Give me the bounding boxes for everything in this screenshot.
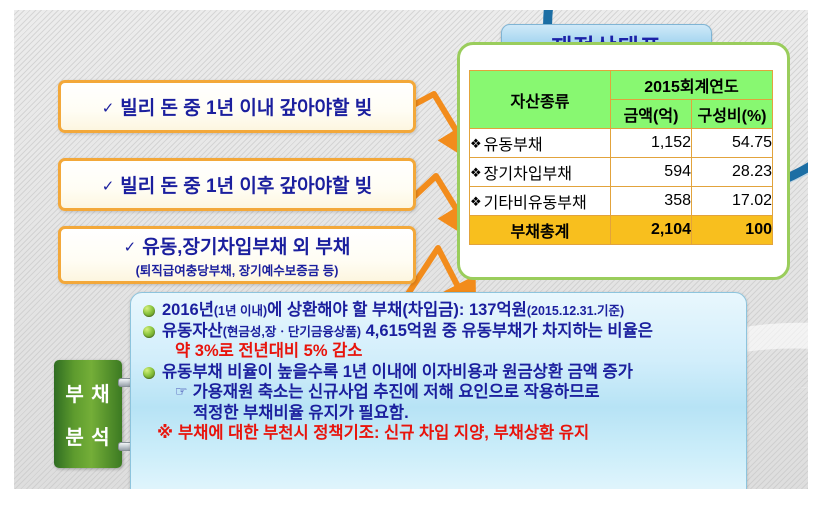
header-ratio: 구성비(%) <box>692 100 773 129</box>
row-label-current-liabilities: ❖유동부채 <box>470 129 611 158</box>
analysis-line-5: ☞ 가용재원 축소는 신규사업 추진에 저해 요인으로 작용하므로 <box>131 384 746 401</box>
check-icon: ✓ <box>124 239 137 256</box>
analysis-line-2-text: 유동자산(현금성,장ㆍ단기금융상품) 4,615억원 중 유동부채가 차지하는 … <box>162 323 653 340</box>
pointing-hand-icon: ☞ <box>175 384 188 398</box>
diamond-icon: ❖ <box>470 165 482 180</box>
analysis-line-1-text: 2016년(1년 이내)에 상환해야 할 부채(차입금): 137억원(2015… <box>162 302 624 319</box>
analysis-line-6: 적정한 부채비율 유지가 필요함. <box>131 405 746 422</box>
row-amount: 1,152 <box>611 129 692 158</box>
callout-main-text: 빌리 돈 중 1년 이후 갚아야할 빚 <box>120 176 372 197</box>
diamond-icon: ❖ <box>470 136 482 151</box>
analysis-line-1-d: (2015.12.31.기준) <box>527 304 624 318</box>
reference-mark-icon: ※ <box>157 425 173 442</box>
callout-text-1: ✓빌리 돈 중 1년 이내 갚아야할 빚 <box>102 93 373 120</box>
analysis-label-line1: 부 채 <box>65 378 110 407</box>
bullet-icon <box>143 305 155 317</box>
row-label-long-term-borrowings: ❖장기차입부채 <box>470 158 611 187</box>
callout-other-liabilities: ✓유동,장기차입부채 외 부채 (퇴직급여충당부채, 장기예수보증금 등) <box>58 226 416 284</box>
callout-text-3: ✓유동,장기차입부채 외 부채 <box>124 232 351 259</box>
header-amount: 금액(억) <box>611 100 692 129</box>
analysis-line-2-b: (현금성,장ㆍ단기금융상품) <box>223 325 361 339</box>
diamond-icon: ❖ <box>470 194 482 209</box>
analysis-line-7: ※ 부채에 대한 부천시 정책기조: 신규 차입 지양, 부채상환 유지 <box>131 425 746 442</box>
callout-sub-text: (퇴직급여충당부채, 장기예수보증금 등) <box>136 260 339 279</box>
table-row: ❖기타비유동부채 358 17.02 <box>470 187 773 216</box>
analysis-side-label: 부 채 분 석 <box>54 360 122 468</box>
analysis-line-1: 2016년(1년 이내)에 상환해야 할 부채(차입금): 137억원(2015… <box>131 302 746 319</box>
financial-table: 자산종류 2015회계연도 금액(억) 구성비(%) ❖유동부채 1,152 5… <box>469 70 773 245</box>
row-name: 장기차입부채 <box>484 166 572 183</box>
analysis-panel: 2016년(1년 이내)에 상환해야 할 부채(차입금): 137억원(2015… <box>130 292 747 489</box>
row-amount: 358 <box>611 187 692 216</box>
callout-current-liabilities: ✓빌리 돈 중 1년 이내 갚아야할 빚 <box>58 80 416 133</box>
row-ratio: 28.23 <box>692 158 773 187</box>
callout-main-text: 빌리 돈 중 1년 이내 갚아야할 빚 <box>120 98 372 119</box>
total-label: 부채총계 <box>470 216 611 245</box>
slide-root: 재정상태표 자산종류 2015회계연도 금액(억) 구성비(%) ❖유동부채 <box>0 0 822 506</box>
callout-long-term-borrowings: ✓빌리 돈 중 1년 이후 갚아야할 빚 <box>58 158 416 211</box>
analysis-line-2-c: 4,615억원 중 유동부채가 차지하는 비율은 <box>361 322 653 340</box>
analysis-label-line2: 분 석 <box>65 421 110 450</box>
analysis-line-2-a: 유동자산 <box>162 322 223 340</box>
analysis-line-3: 약 3%로 전년대비 5% 감소 <box>131 343 746 360</box>
row-amount: 594 <box>611 158 692 187</box>
analysis-line-4-text: 유동부채 비율이 높을수록 1년 이내에 이자비용과 원금상환 금액 증가 <box>162 364 633 381</box>
check-icon: ✓ <box>102 100 115 117</box>
bullet-icon <box>143 326 155 338</box>
row-ratio: 54.75 <box>692 129 773 158</box>
analysis-line-1-c: 에 상환해야 할 부채(차입금): 137억원 <box>267 301 527 319</box>
bullet-icon <box>143 367 155 379</box>
row-label-other-noncurrent: ❖기타비유동부채 <box>470 187 611 216</box>
analysis-line-1-a: 2016년 <box>162 301 214 319</box>
callout-main-text: 유동,장기차입부채 외 부채 <box>142 237 350 258</box>
total-amount: 2,104 <box>611 216 692 245</box>
analysis-line-5-text: 가용재원 축소는 신규사업 추진에 저해 요인으로 작용하므로 <box>193 384 600 401</box>
header-fiscal-year: 2015회계연도 <box>611 71 773 100</box>
table-row: ❖유동부채 1,152 54.75 <box>470 129 773 158</box>
header-asset-kind: 자산종류 <box>470 71 611 129</box>
callout-text-2: ✓빌리 돈 중 1년 이후 갚아야할 빚 <box>102 171 373 198</box>
check-icon: ✓ <box>102 178 115 195</box>
analysis-line-2: 유동자산(현금성,장ㆍ단기금융상품) 4,615억원 중 유동부채가 차지하는 … <box>131 323 746 340</box>
row-name: 기타비유동부채 <box>484 195 587 212</box>
analysis-line-7-text: 부채에 대한 부천시 정책기조: 신규 차입 지양, 부채상환 유지 <box>178 425 589 442</box>
slide-stage: 재정상태표 자산종류 2015회계연도 금액(억) 구성비(%) ❖유동부채 <box>14 10 808 489</box>
table-total-row: 부채총계 2,104 100 <box>470 216 773 245</box>
row-name: 유동부채 <box>484 137 543 154</box>
analysis-line-1-b: (1년 이내) <box>214 304 267 318</box>
analysis-line-4: 유동부채 비율이 높을수록 1년 이내에 이자비용과 원금상환 금액 증가 <box>131 364 746 381</box>
row-ratio: 17.02 <box>692 187 773 216</box>
total-ratio: 100 <box>692 216 773 245</box>
table-header-row-1: 자산종류 2015회계연도 <box>470 71 773 100</box>
table-row: ❖장기차입부채 594 28.23 <box>470 158 773 187</box>
